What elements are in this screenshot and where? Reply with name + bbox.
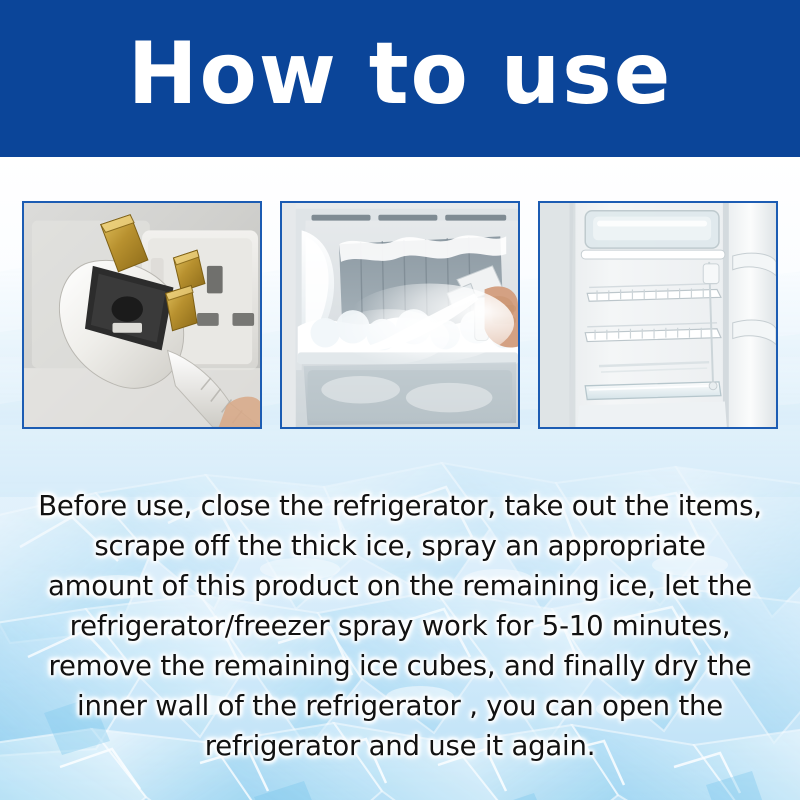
instruction-paragraph: Before use, close the refrigerator, take… <box>38 486 762 766</box>
page-title: How to use <box>12 26 788 122</box>
photo-clean-empty-refrigerator-interior <box>538 201 778 429</box>
photo-plug-unplugged-from-socket <box>22 201 262 429</box>
photo-row <box>22 201 778 429</box>
how-to-use-infographic: How to use <box>0 0 800 800</box>
header-banner: How to use <box>0 0 800 157</box>
photo-spraying-defroster-into-freezer <box>280 201 520 429</box>
